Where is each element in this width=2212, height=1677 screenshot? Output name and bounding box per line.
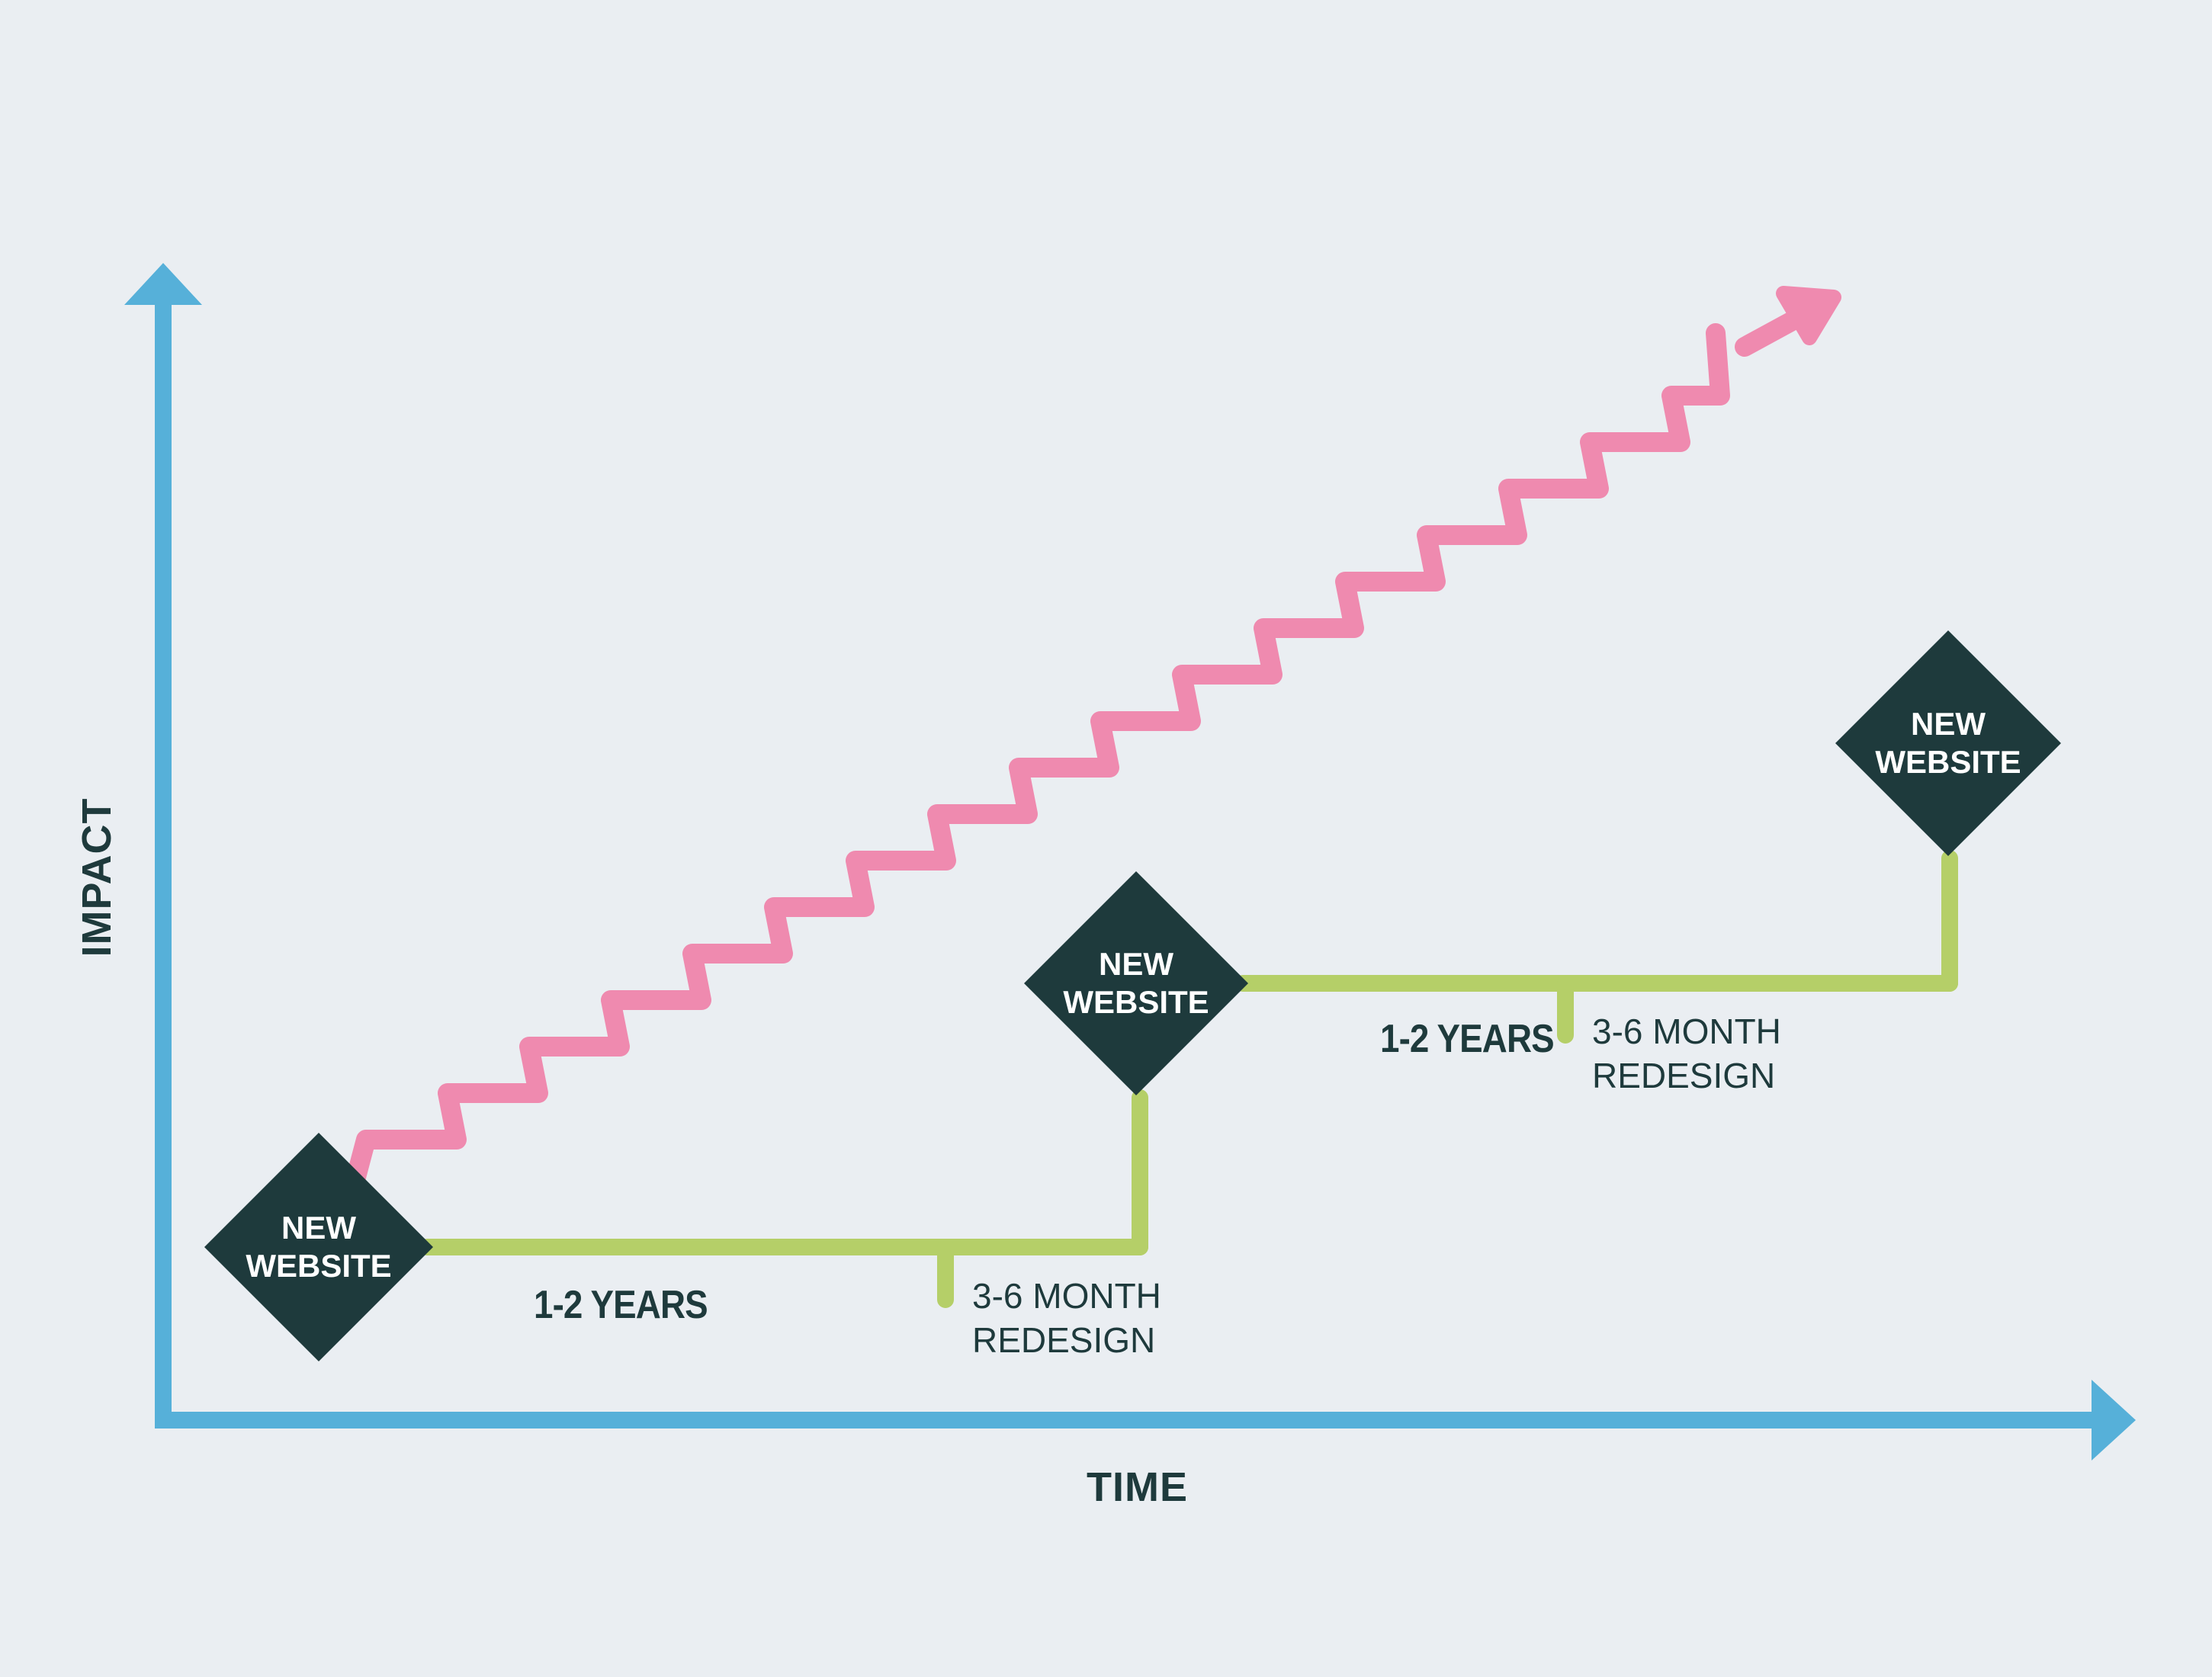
- y-axis-label: IMPACT: [73, 763, 120, 992]
- impact-over-time-diagram: [0, 0, 2212, 1677]
- milestone-diamond-3[interactable]: [1835, 630, 2061, 856]
- interval-label-years-2: 1-2 YEARS: [1380, 1016, 1554, 1062]
- interval-label-redesign-2: 3-6 MONTH REDESIGN: [1592, 1010, 1781, 1098]
- pink-trend-arrow: [1745, 293, 1834, 347]
- interval-label-redesign-2-line2: REDESIGN: [1592, 1054, 1781, 1098]
- interval-label-years-1: 1-2 YEARS: [534, 1282, 708, 1328]
- diagram-canvas: IMPACT TIME NEW WEBSITE NEW WEBSITE NEW …: [0, 0, 2212, 1677]
- x-axis-line: [155, 1412, 2095, 1428]
- milestone-diamond-2[interactable]: [1024, 871, 1248, 1095]
- y-axis-line: [155, 296, 172, 1428]
- x-axis-label: TIME: [1087, 1464, 1188, 1511]
- x-axis-arrowhead: [2092, 1380, 2136, 1461]
- interval-label-redesign-1-line2: REDESIGN: [972, 1319, 1161, 1363]
- interval-label-redesign-2-line1: 3-6 MONTH: [1592, 1010, 1781, 1054]
- interval-label-redesign-1-line1: 3-6 MONTH: [972, 1275, 1161, 1319]
- milestone-diamond-1[interactable]: [204, 1133, 433, 1361]
- y-axis-arrowhead: [124, 263, 202, 305]
- interval-label-redesign-1: 3-6 MONTH REDESIGN: [972, 1275, 1161, 1362]
